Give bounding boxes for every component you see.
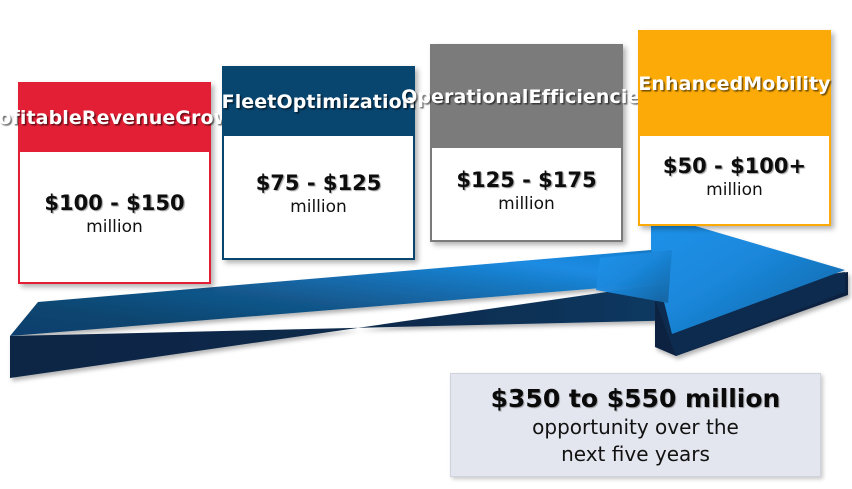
pillar-card-header: Enhanced Mobility bbox=[640, 32, 829, 136]
arrow-head-under bbox=[655, 272, 845, 356]
pillar-label-line-1: Enhanced bbox=[638, 73, 743, 95]
pillar-label-line-1: Operational bbox=[401, 86, 528, 108]
pillar-amount: $75 - $125 bbox=[256, 172, 382, 195]
pillar-card-body: $100 - $150 million bbox=[20, 152, 209, 282]
pillar-label-line-2: Mobility bbox=[743, 73, 830, 95]
pillar-card-header: Operational Efficiencies bbox=[432, 46, 621, 148]
arrow-head-top bbox=[651, 213, 845, 334]
pillar-label-line-2: Revenue bbox=[82, 107, 175, 129]
arrow-head-side bbox=[655, 272, 848, 356]
pillar-card-body: $75 - $125 million bbox=[224, 136, 413, 258]
pillar-unit: million bbox=[86, 216, 143, 238]
pillar-amount: $50 - $100+ bbox=[663, 155, 806, 178]
pillar-card-header: Profitable Revenue Growth bbox=[20, 84, 209, 152]
pillar-card-profitable-revenue-growth[interactable]: Profitable Revenue Growth $100 - $150 mi… bbox=[18, 82, 211, 284]
value-creation-diagram: Profitable Revenue Growth $100 - $150 mi… bbox=[0, 0, 852, 489]
pillar-card-fleet-optimization[interactable]: Fleet Optimization $75 - $125 million bbox=[222, 66, 415, 260]
pillar-unit: million bbox=[498, 193, 555, 215]
pillar-card-header: Fleet Optimization bbox=[224, 68, 413, 136]
pillar-card-operational-efficiencies[interactable]: Operational Efficiencies $125 - $175 mil… bbox=[430, 44, 623, 242]
pillar-label-line-2: Efficiencies bbox=[529, 86, 652, 108]
pillar-label-line-1: Fleet bbox=[222, 91, 277, 113]
pillar-label-line-1: Profitable bbox=[0, 107, 82, 129]
pillar-card-enhanced-mobility[interactable]: Enhanced Mobility $50 - $100+ million bbox=[638, 30, 831, 226]
summary-callout: $350 to $550 million opportunity over th… bbox=[450, 373, 821, 477]
pillar-card-body: $50 - $100+ million bbox=[640, 136, 829, 224]
pillar-amount: $100 - $150 bbox=[44, 192, 184, 215]
pillar-card-body: $125 - $175 million bbox=[432, 148, 621, 240]
summary-line-3: next five years bbox=[561, 442, 710, 466]
summary-headline: $350 to $550 million bbox=[491, 384, 781, 414]
summary-line-2: opportunity over the bbox=[532, 415, 739, 439]
pillar-label-line-2: Optimization bbox=[276, 91, 415, 113]
pillar-amount: $125 - $175 bbox=[456, 169, 596, 192]
arrow-shaft-side bbox=[10, 280, 690, 378]
pillar-unit: million bbox=[706, 179, 763, 201]
pillar-unit: million bbox=[290, 196, 347, 218]
arrow-neck bbox=[596, 250, 672, 303]
